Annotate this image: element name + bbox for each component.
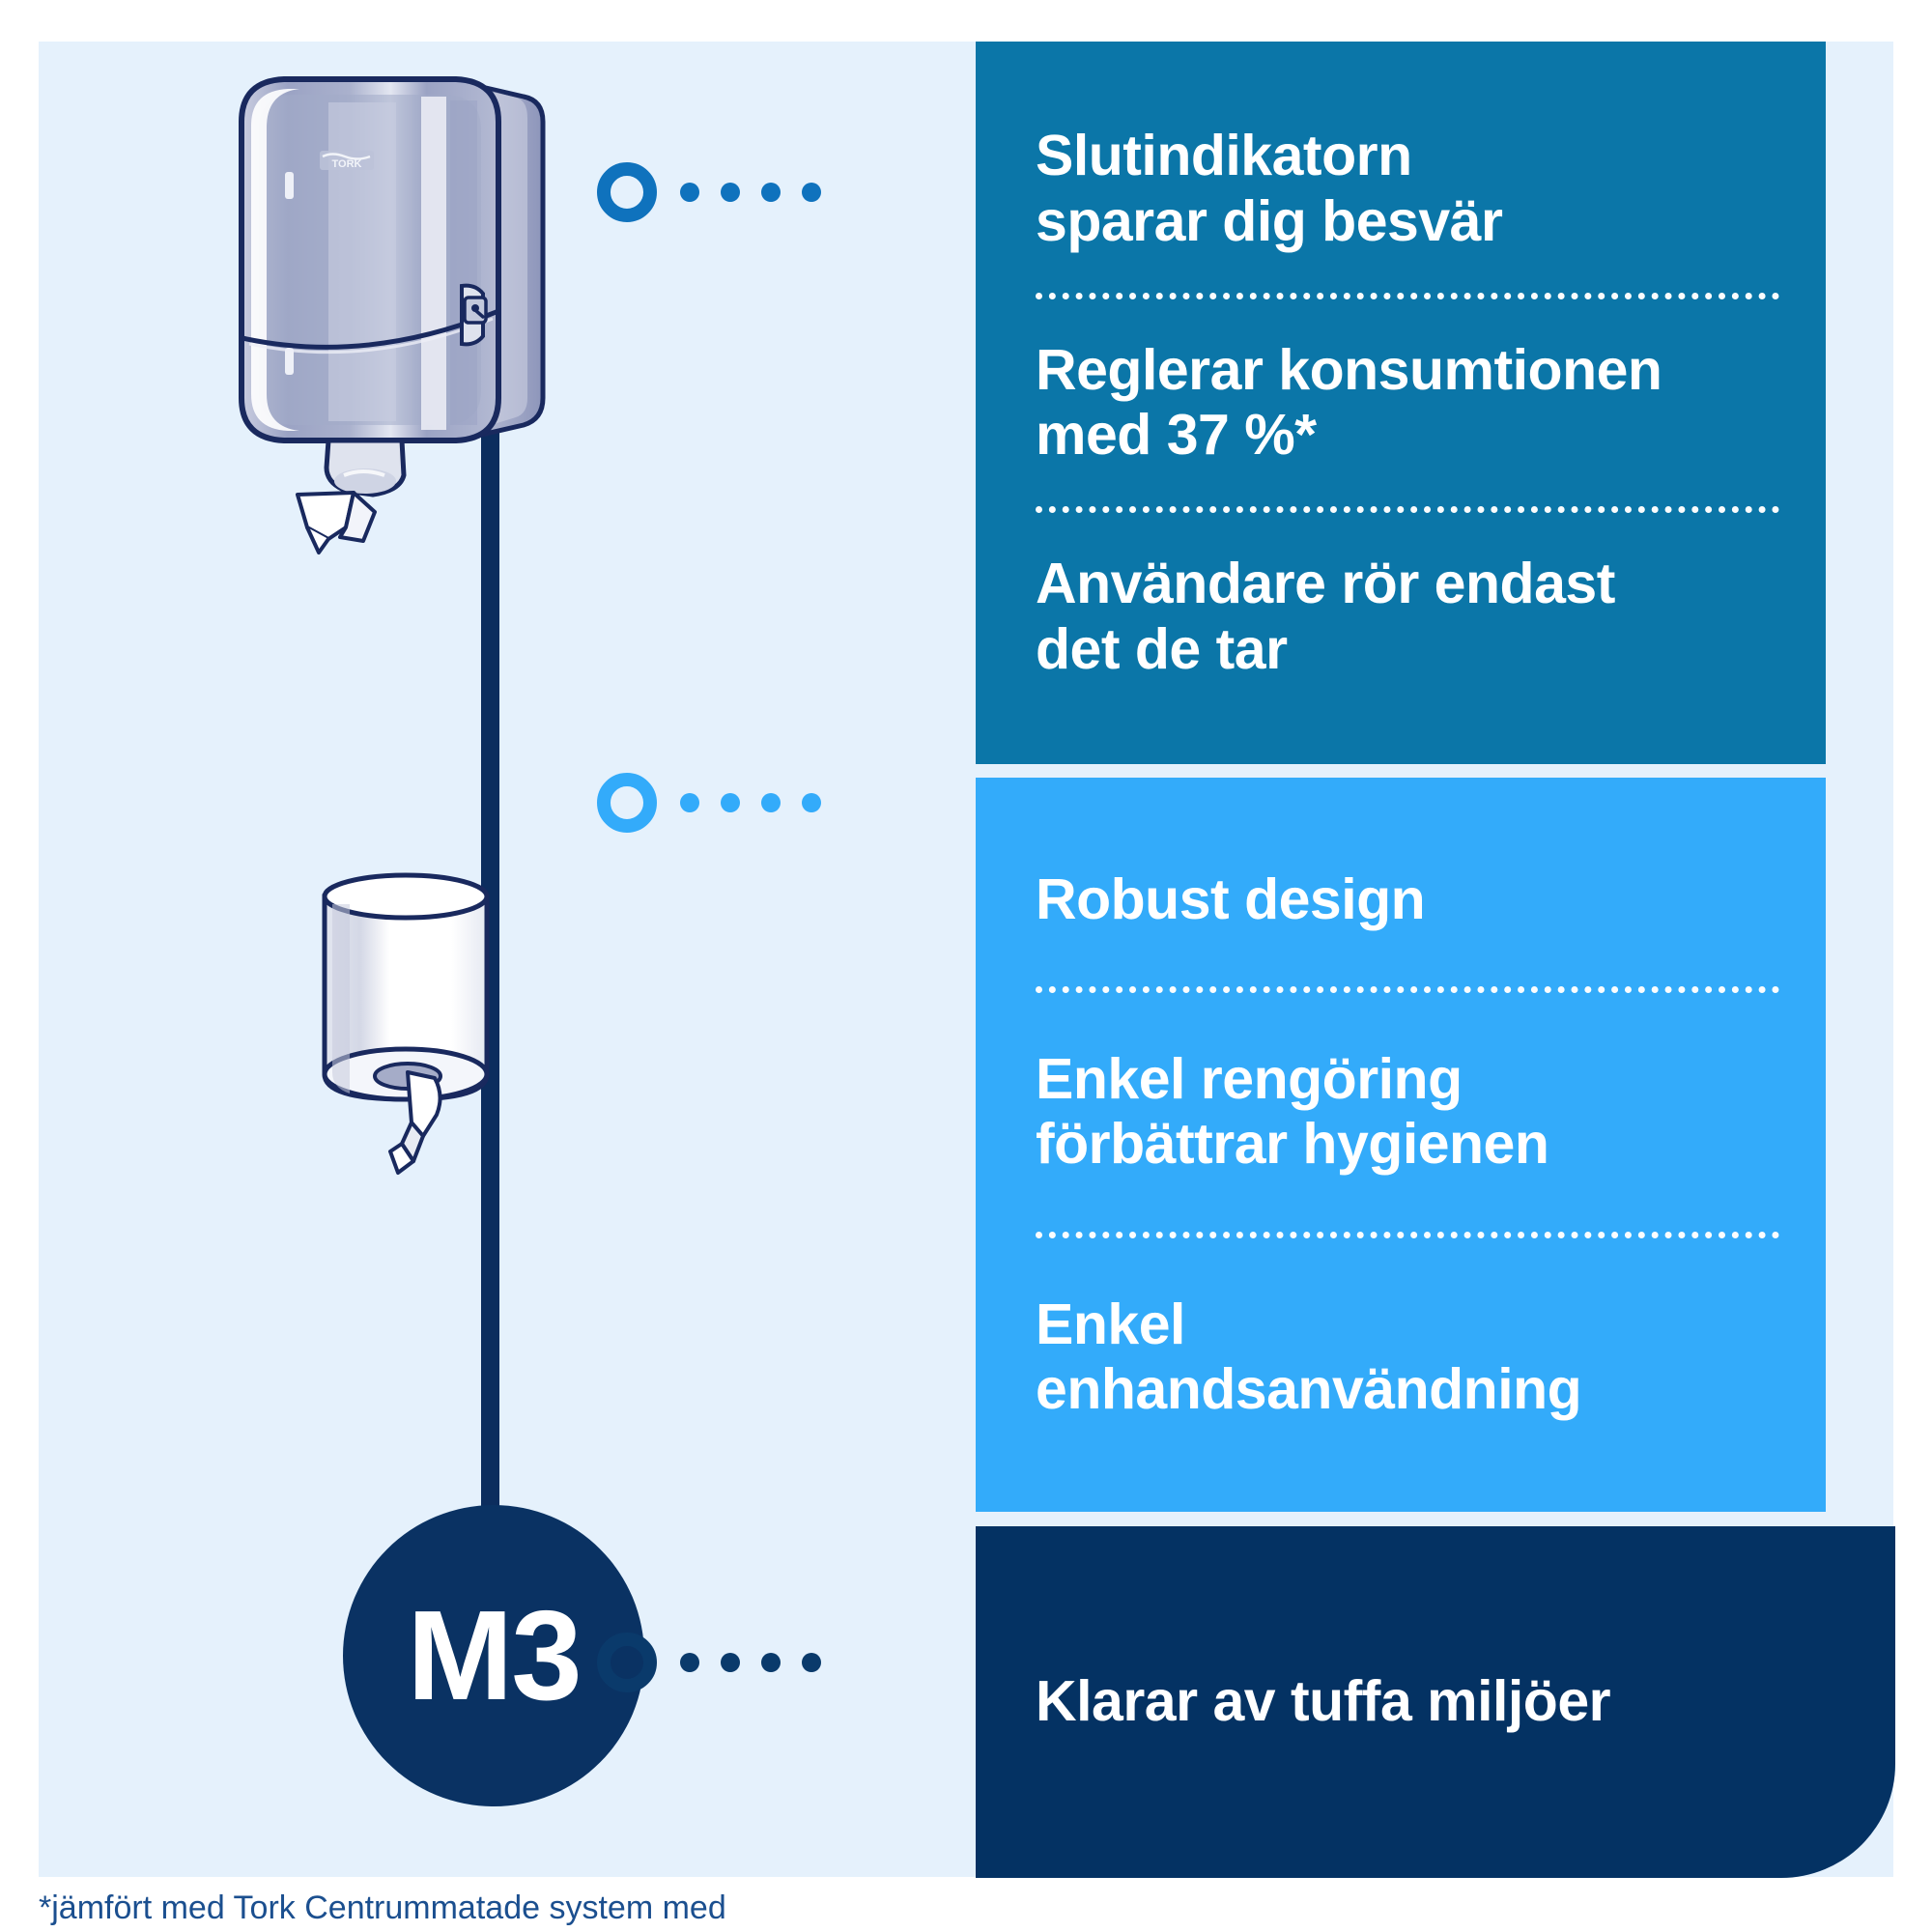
m3-badge-label: M3 — [407, 1592, 580, 1719]
leader-dot — [721, 793, 740, 812]
benefit-item: Enkel rengöring förbättrar hygienen — [1036, 1047, 1779, 1178]
centrefeed-dispenser-illustration: TORK — [184, 58, 609, 560]
divider — [1036, 506, 1779, 513]
circle-icon — [597, 773, 657, 833]
leader-dot — [802, 1653, 821, 1672]
leader-dot — [680, 183, 699, 202]
leader-dot — [802, 793, 821, 812]
dotted-leader — [680, 183, 842, 202]
benefits-panel-teal: Slutindikatorn sparar dig besvär Reglera… — [976, 42, 1826, 764]
divider — [1036, 293, 1779, 299]
dotted-leader — [680, 793, 842, 812]
benefits-panel-navy: Klarar av tuffa miljöer — [976, 1526, 1895, 1878]
benefit-item: Användare rör endast det de tar — [1036, 552, 1779, 682]
benefit-item: Klarar av tuffa miljöer — [1036, 1669, 1849, 1734]
dotted-leader — [680, 1653, 842, 1672]
leader-dot — [680, 1653, 699, 1672]
benefits-panel-blue: Robust design Enkel rengöring förbättrar… — [976, 778, 1826, 1512]
leader-dot — [761, 793, 781, 812]
circle-icon — [597, 162, 657, 222]
connector-marker-2 — [597, 773, 842, 833]
tork-logo-text: TORK — [332, 158, 362, 170]
leader-dot — [802, 183, 821, 202]
connector-marker-3 — [597, 1633, 842, 1692]
leader-dot — [761, 1653, 781, 1672]
benefit-item: Robust design — [1036, 867, 1779, 932]
leader-dot — [761, 183, 781, 202]
divider — [1036, 1232, 1779, 1238]
connector-marker-1 — [597, 162, 842, 222]
benefit-item: Reglerar konsumtionen med 37 %* — [1036, 338, 1779, 469]
paper-roll-illustration — [290, 869, 522, 1198]
leader-dot — [721, 183, 740, 202]
leader-dot — [680, 793, 699, 812]
divider — [1036, 986, 1779, 993]
footnote: *jämfört med Tork Centrummatade system m… — [39, 1889, 726, 1928]
infographic-stage: TORK — [0, 0, 1932, 1932]
leader-dot — [721, 1653, 740, 1672]
benefit-item: Enkel enhandsanvändning — [1036, 1293, 1779, 1423]
benefit-item: Slutindikatorn sparar dig besvär — [1036, 124, 1779, 254]
circle-icon — [597, 1633, 657, 1692]
dispenser-lock-icon — [462, 286, 486, 345]
